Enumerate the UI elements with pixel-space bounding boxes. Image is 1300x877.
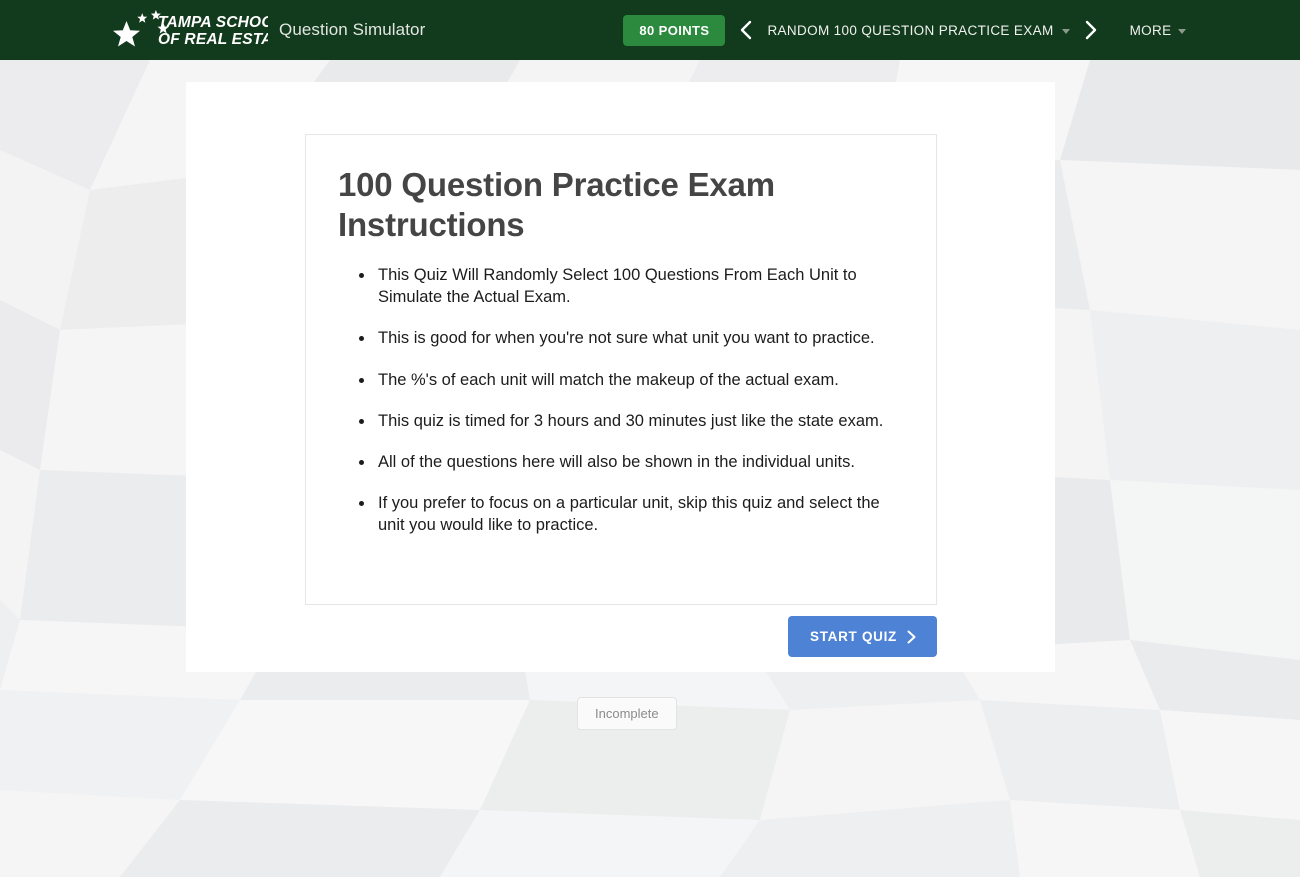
content-panel: 100 Question Practice Exam Instructions … — [186, 82, 1055, 672]
chevron-right-icon — [906, 630, 917, 644]
svg-text:TAMPA SCHOOL: TAMPA SCHOOL — [158, 14, 268, 31]
more-menu-label: MORE — [1130, 23, 1172, 38]
more-menu-dropdown[interactable]: MORE — [1130, 23, 1187, 38]
brand-logo[interactable]: TAMPA SCHOOL OF REAL ESTATE Question Sim… — [110, 10, 425, 50]
page-title: 100 Question Practice Exam Instructions — [338, 165, 900, 244]
caret-down-icon — [1062, 29, 1070, 34]
points-badge[interactable]: 80 POINTS — [623, 15, 725, 46]
current-course-dropdown[interactable]: RANDOM 100 QUESTION PRACTICE EXAM — [767, 23, 1069, 38]
instructions-list: This Quiz Will Randomly Select 100 Quest… — [338, 264, 900, 536]
list-item: This is good for when you're not sure wh… — [376, 327, 900, 349]
list-item: This quiz is timed for 3 hours and 30 mi… — [376, 410, 900, 432]
start-quiz-button[interactable]: START QUIZ — [788, 616, 937, 657]
list-item: All of the questions here will also be s… — [376, 451, 900, 473]
status-badge[interactable]: Incomplete — [577, 697, 677, 730]
svg-text:OF REAL ESTATE: OF REAL ESTATE — [158, 31, 268, 48]
list-item: The %'s of each unit will match the make… — [376, 369, 900, 391]
app-header: TAMPA SCHOOL OF REAL ESTATE Question Sim… — [0, 0, 1300, 60]
list-item: This Quiz Will Randomly Select 100 Quest… — [376, 264, 900, 308]
instructions-card: 100 Question Practice Exam Instructions … — [305, 134, 937, 605]
prev-course-button[interactable] — [725, 10, 767, 50]
chevron-right-icon — [1083, 19, 1099, 41]
star-logo-icon: TAMPA SCHOOL OF REAL ESTATE — [110, 10, 268, 50]
chevron-left-icon — [738, 19, 754, 41]
caret-down-icon — [1178, 29, 1186, 34]
current-course-label: RANDOM 100 QUESTION PRACTICE EXAM — [767, 23, 1053, 38]
list-item: If you prefer to focus on a particular u… — [376, 492, 900, 536]
next-course-button[interactable] — [1070, 10, 1112, 50]
header-navigation: 80 POINTS RANDOM 100 QUESTION PRACTICE E… — [623, 10, 1186, 50]
app-subtitle: Question Simulator — [279, 20, 425, 40]
start-quiz-row: START QUIZ — [305, 616, 937, 657]
start-quiz-label: START QUIZ — [810, 629, 897, 644]
